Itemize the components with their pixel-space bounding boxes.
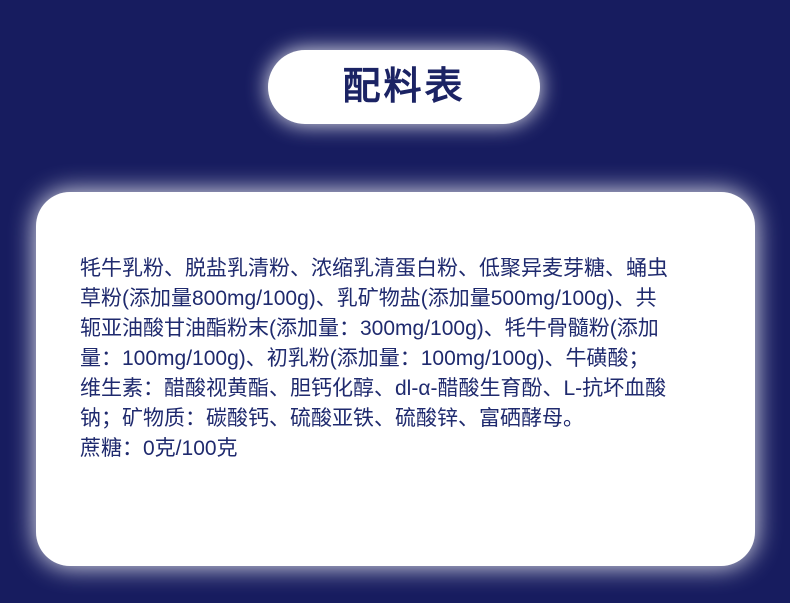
ingredients-line: 量：100mg/100g)、初乳粉(添加量：100mg/100g)、牛磺酸；: [80, 344, 716, 374]
ingredients-line: 轭亚油酸甘油酯粉末(添加量：300mg/100g)、牦牛骨髓粉(添加: [80, 314, 716, 344]
card-surface: 牦牛乳粉、脱盐乳清粉、浓缩乳清蛋白粉、低聚异麦芽糖、蛹虫 草粉(添加量800mg…: [36, 192, 755, 566]
ingredients-line: 蔗糖：0克/100克: [80, 434, 716, 464]
page-title-pill: 配料表: [268, 50, 540, 124]
ingredients-text-block: 牦牛乳粉、脱盐乳清粉、浓缩乳清蛋白粉、低聚异麦芽糖、蛹虫 草粉(添加量800mg…: [80, 254, 716, 464]
ingredients-card: 牦牛乳粉、脱盐乳清粉、浓缩乳清蛋白粉、低聚异麦芽糖、蛹虫 草粉(添加量800mg…: [36, 192, 755, 566]
ingredients-panel: 配料表 牦牛乳粉、脱盐乳清粉、浓缩乳清蛋白粉、低聚异麦芽糖、蛹虫 草粉(添加量8…: [0, 0, 790, 603]
ingredients-line: 草粉(添加量800mg/100g)、乳矿物盐(添加量500mg/100g)、共: [80, 284, 716, 314]
ingredients-line: 维生素：醋酸视黄酯、胆钙化醇、dl-α-醋酸生育酚、L-抗坏血酸: [80, 374, 716, 404]
title-pill-surface: 配料表: [268, 50, 540, 124]
ingredients-line: 钠；矿物质：碳酸钙、硫酸亚铁、硫酸锌、富硒酵母。: [80, 404, 716, 434]
ingredients-line: 牦牛乳粉、脱盐乳清粉、浓缩乳清蛋白粉、低聚异麦芽糖、蛹虫: [80, 254, 716, 284]
page-title: 配料表: [342, 68, 465, 106]
